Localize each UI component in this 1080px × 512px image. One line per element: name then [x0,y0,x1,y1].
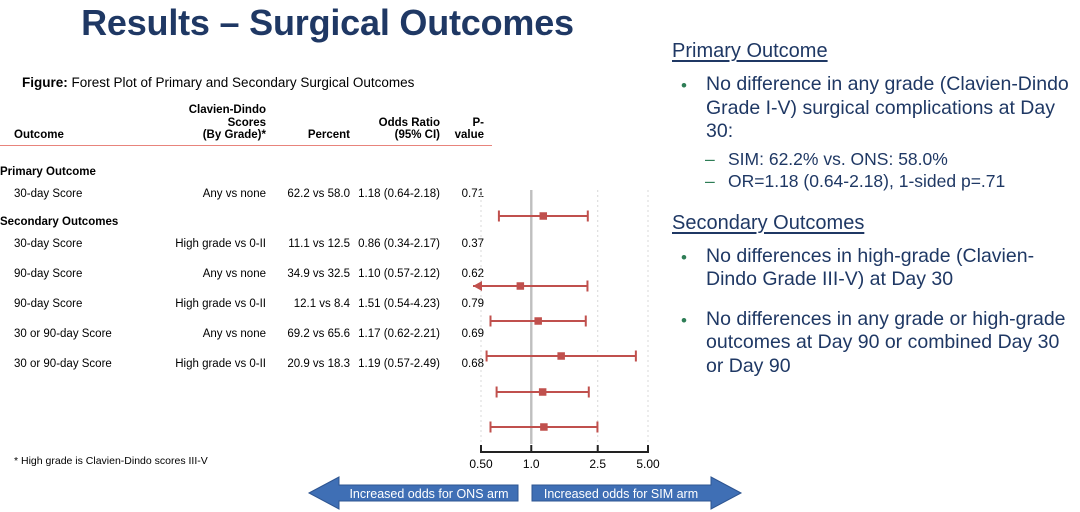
dash-icon: – [705,170,715,192]
cell-outcome: 30-day Score [0,179,154,209]
sim-arrow-label: Increased odds for SIM arm [544,487,698,501]
section-primary-outcome: Primary Outcome [0,159,492,179]
primary-sub-bullet-text: OR=1.18 (0.64-2.18), 1-sided p=.71 [728,171,1005,191]
forest-row [499,211,588,222]
table-row: 30-day Score Any vs none 62.2 vs 58.0 1.… [0,179,492,209]
figure-caption-text: Forest Plot of Primary and Secondary Sur… [68,75,415,90]
bullet-icon: • [681,246,687,270]
slide: Results – Surgical Outcomes Figure: Fore… [0,0,1080,512]
cell-clavien-dindo: Any vs none [154,179,266,209]
direction-banners: Increased odds for ONS arm Increased odd… [305,474,745,512]
secondary-outcome-bullet: • No differences in any grade or high-gr… [672,308,1072,379]
table-row: 90-day Score High grade vs 0-II 12.1 vs … [0,289,492,319]
cell-odds-ratio: 1.19 (0.57-2.49) [350,349,440,379]
cell-percent: 34.9 vs 32.5 [266,259,350,289]
table-header-row: Outcome Clavien-Dindo Scores (By Grade)*… [0,104,492,143]
forest-plot: 0.501.02.55.00 [455,104,670,474]
axis-tick-label: 0.50 [469,457,493,471]
col-header-percent: Percent [266,104,350,143]
results-table-area: Outcome Clavien-Dindo Scores (By Grade)*… [0,104,470,379]
cell-clavien-dindo: High grade vs 0-II [154,289,266,319]
right-panel: Primary Outcome • No difference in any g… [672,40,1072,382]
secondary-outcomes-heading: Secondary Outcomes [672,212,1072,235]
page-title: Results – Surgical Outcomes [0,2,655,44]
axis-tick-label: 5.00 [636,457,660,471]
table-row: 90-day Score Any vs none 34.9 vs 32.5 1.… [0,259,492,289]
point-estimate-marker [517,282,525,290]
cell-outcome: 90-day Score [0,289,154,319]
x-axis [481,445,648,452]
primary-outcome-heading: Primary Outcome [672,40,1072,63]
col-header-odds-ratio: Odds Ratio (95% CI) [350,104,440,143]
cell-outcome: 30 or 90-day Score [0,349,154,379]
table-footnote: * High grade is Clavien-Dindo scores III… [14,455,208,467]
dash-icon: – [705,148,715,170]
forest-row [491,316,586,327]
forest-row [491,422,598,433]
point-estimate-marker [540,212,548,220]
cell-percent: 69.2 vs 65.6 [266,319,350,349]
table-row: 30-day Score High grade vs 0-II 11.1 vs … [0,229,492,259]
cell-outcome: 90-day Score [0,259,154,289]
point-estimate-marker [539,388,547,396]
col-header-outcome: Outcome [0,104,154,143]
table-row: 30 or 90-day Score Any vs none 69.2 vs 6… [0,319,492,349]
point-estimate-marker [534,317,542,325]
section-label: Primary Outcome [0,159,492,179]
figure-caption-label: Figure: [22,75,68,90]
secondary-outcome-bullet: • No differences in high-grade (Clavien-… [672,245,1072,292]
cell-odds-ratio: 1.51 (0.54-4.23) [350,289,440,319]
secondary-outcome-bullet-text: No differences in high-grade (Clavien-Di… [706,245,1034,291]
section-secondary-outcomes: Secondary Outcomes [0,209,492,229]
direction-banner-svg: Increased odds for ONS arm Increased odd… [305,474,745,512]
forest-plot-svg: 0.501.02.55.00 [455,104,670,474]
cell-odds-ratio: 1.18 (0.64-2.18) [350,179,440,209]
primary-outcome-bullet-text: No difference in any grade (Clavien-Dind… [706,73,1069,142]
cell-percent: 12.1 vs 8.4 [266,289,350,319]
cell-outcome: 30 or 90-day Score [0,319,154,349]
point-estimate-marker [540,423,548,431]
axis-tick-label: 2.5 [589,457,606,471]
primary-sub-bullet: – SIM: 62.2% vs. ONS: 58.0% [672,148,1072,170]
figure-caption: Figure: Forest Plot of Primary and Secon… [22,75,414,90]
cell-percent: 62.2 vs 58.0 [266,179,350,209]
table-row: 30 or 90-day Score High grade vs 0-II 20… [0,349,492,379]
spacer [0,145,492,159]
cell-outcome: 30-day Score [0,229,154,259]
cell-percent: 11.1 vs 12.5 [266,229,350,259]
cell-clavien-dindo: Any vs none [154,319,266,349]
cell-clavien-dindo: Any vs none [154,259,266,289]
bullet-icon: • [681,74,687,98]
cell-clavien-dindo: High grade vs 0-II [154,349,266,379]
ci-left-arrowhead [473,281,482,291]
results-table: Outcome Clavien-Dindo Scores (By Grade)*… [0,104,492,379]
point-estimate-marker [557,352,565,360]
cell-odds-ratio: 1.10 (0.57-2.12) [350,259,440,289]
cell-odds-ratio: 0.86 (0.34-2.17) [350,229,440,259]
primary-sub-bullet: – OR=1.18 (0.64-2.18), 1-sided p=.71 [672,170,1072,192]
bullet-icon: • [681,309,687,333]
primary-outcome-bullet: • No difference in any grade (Clavien-Di… [672,73,1072,144]
col-header-clavien-dindo: Clavien-Dindo Scores (By Grade)* [154,104,266,143]
ons-arrow-label: Increased odds for ONS arm [349,487,508,501]
cell-odds-ratio: 1.17 (0.62-2.21) [350,319,440,349]
secondary-outcome-bullet-text: No differences in any grade or high-grad… [706,308,1066,377]
cell-percent: 20.9 vs 18.3 [266,349,350,379]
cell-clavien-dindo: High grade vs 0-II [154,229,266,259]
forest-row [487,351,636,362]
section-label: Secondary Outcomes [0,209,492,229]
axis-tick-label: 1.0 [523,457,540,471]
forest-row [497,387,589,398]
primary-sub-bullet-text: SIM: 62.2% vs. ONS: 58.0% [728,149,948,169]
